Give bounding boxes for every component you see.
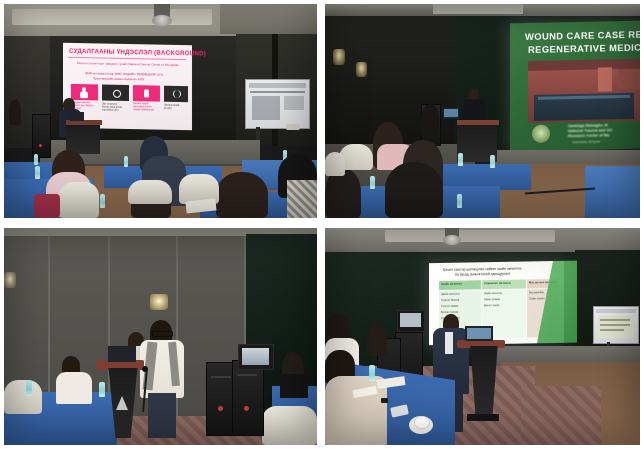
slide-subtitle: Монгол улсын хорт хавдрын тухай (Nationa…	[77, 61, 178, 67]
coffee-cup	[414, 416, 430, 429]
slide-icon-caption-4b: үр дүн	[164, 107, 171, 110]
projector-side-screen	[593, 306, 639, 344]
wall-sconce	[333, 49, 345, 65]
water-bottle	[458, 153, 463, 166]
slide-title-line2: ба бусад эмчилгээний харьцуулалт	[455, 272, 511, 277]
wall-sconce	[4, 272, 16, 288]
table-header-label-2: Уламжлалт эмчилгээ	[484, 282, 511, 285]
pa-speaker	[232, 360, 264, 436]
panel-bottom-right: Бичил сэвсгэр шилжүүлэн сийвэн эсийн эмч…	[325, 228, 640, 445]
dna-icon	[173, 90, 181, 98]
chair-cover	[128, 180, 172, 204]
water-bottle	[34, 154, 38, 165]
slide-credit-line3: Research Center of Mo	[568, 133, 609, 138]
chair-cover	[59, 182, 99, 218]
slide-icon-caption-3c: чанар сайжруулах	[133, 109, 154, 112]
table-cell: Сэргээх чадвар	[441, 305, 458, 308]
table-cell: Мэс ажилбар	[529, 291, 544, 294]
projector-side-screen	[245, 79, 310, 129]
pa-speaker	[32, 114, 51, 158]
slide-icon-box-1	[71, 84, 98, 101]
panel-top-left: СУДАЛГААНЫ ҮНДЭСЛЭЛ (BACKGROUND) Монгол …	[4, 4, 317, 218]
slide-wound-care-title: WOUND CARE CASE RE REGENERATIVE MEDIC Ga…	[510, 21, 640, 152]
table-cell: Эмийн эмчилгээ	[484, 292, 502, 295]
slide-line4: Эрүүл мэндийн яамны мэдээлэл 2019	[93, 76, 144, 81]
audience-member	[9, 99, 21, 125]
water-bottle	[35, 166, 40, 179]
confidence-monitor	[238, 344, 274, 370]
table-cell: Сорви үлдэнэ	[529, 297, 544, 300]
panel-top-right: WOUND CARE CASE RE REGENERATIVE MEDIC Ga…	[325, 4, 640, 218]
chair-cover	[325, 152, 345, 176]
wall-sconce	[356, 62, 367, 77]
water-bottle	[26, 380, 32, 396]
table-cell: Удаан хугацаа	[484, 298, 500, 301]
slide-icon-box-4	[164, 86, 188, 102]
wall-sconce	[150, 294, 168, 310]
hand-icon	[144, 89, 149, 97]
slide-title: СУДАЛГААНЫ ҮНДЭСЛЭЛ (BACKGROUND)	[69, 48, 206, 58]
audience-table	[585, 166, 640, 218]
audience-member	[385, 162, 443, 218]
slide-icon-box-2	[102, 85, 129, 102]
slide-icon-caption-2c: сэргийлэх үйл	[102, 109, 118, 112]
presenter-laptop	[108, 346, 136, 362]
water-bottle	[369, 365, 375, 381]
photo-collage: СУДАЛГААНЫ ҮНДЭСЛЭЛ (BACKGROUND) Монгол …	[0, 0, 644, 449]
table-header-label-1: Эсийн эмчилгээ	[441, 283, 462, 286]
slide-credit-line4: Ulaanbaatar, Mongolia	[572, 139, 600, 144]
water-bottle	[370, 176, 375, 189]
handbag	[34, 194, 60, 218]
water-bottle	[99, 382, 105, 397]
panel-bottom-left	[4, 228, 317, 445]
water-bottle	[457, 194, 462, 208]
confidence-monitor	[397, 310, 425, 332]
water-bottle	[100, 194, 105, 208]
chair-cover	[262, 406, 317, 445]
water-bottle	[490, 155, 495, 168]
glasses-icon	[152, 331, 173, 337]
wristwatch	[381, 398, 388, 403]
presenter-laptop	[70, 112, 84, 121]
audience-member	[216, 172, 268, 218]
hospital-building-photo	[528, 59, 640, 123]
slide-title-line2: REGENERATIVE MEDIC	[528, 42, 640, 55]
institution-seal	[532, 125, 550, 143]
audience-member	[421, 104, 439, 136]
chair-cover	[4, 380, 42, 414]
table-cell: Дахилт өндөр	[484, 304, 499, 307]
table-cell: Үрэвсэл багасна	[441, 299, 459, 302]
technician	[367, 326, 387, 356]
table-cell: Эдийн шинэчлэл	[441, 293, 460, 296]
virus-icon	[113, 90, 121, 98]
slide-icon-box-3	[133, 85, 160, 102]
slide-title-line1: WOUND CARE CASE RE	[525, 29, 640, 42]
water-bottle	[124, 156, 128, 167]
